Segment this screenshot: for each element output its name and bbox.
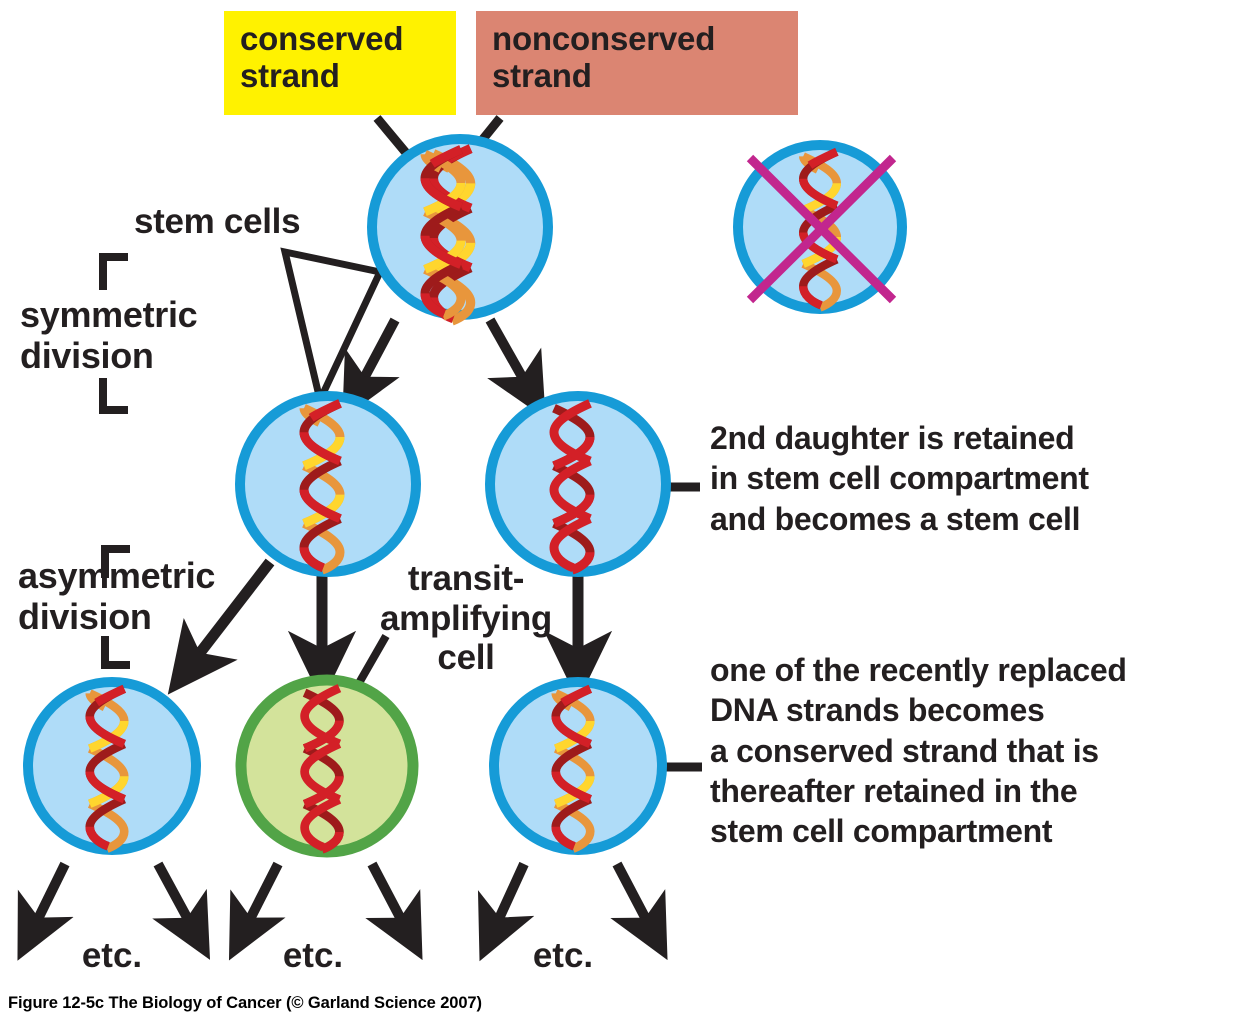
annotation-second-daughter-line3: and becomes a stem cell [710,499,1089,539]
annotation-second-daughter: 2nd daughter is retained in stem cell co… [710,418,1089,539]
etc-label: etc. [253,936,373,976]
label-stem-cells: stem cells [134,202,300,242]
label-transit-line1: transit- [371,559,561,599]
annotation-conserved-line4: thereafter retained in the [710,771,1127,811]
legend-conserved-line1: conserved [240,21,442,58]
cell-daughter-right-row2[interactable] [490,396,666,572]
label-asymmetric-line2: division [18,597,215,638]
legend-nonconserved-line1: nonconserved [492,21,784,58]
label-symmetric-line1: symmetric [20,295,197,336]
cell-stem-cell-crossed-out[interactable] [738,145,902,309]
annotation-conserved-line1: one of the recently replaced [710,650,1127,690]
cell-daughter-left-row3[interactable] [28,682,196,850]
etc-arrows [36,864,648,923]
legend-conserved-strand: conserved strand [224,11,456,115]
label-transit-amplifying-cell: transit- amplifying cell [371,559,561,678]
annotation-conserved-line3: a conserved strand that is [710,731,1127,771]
annotation-conserved-line2: DNA strands becomes [710,690,1127,730]
etc-label: etc. [52,936,172,976]
label-symmetric-line2: division [20,336,197,377]
annotation-second-daughter-line1: 2nd daughter is retained [710,418,1089,458]
cell-daughter-left-row2[interactable] [240,396,416,572]
label-asymmetric-division: asymmetric division [18,556,215,637]
label-transit-line2: amplifying [371,599,561,639]
label-asymmetric-line1: asymmetric [18,556,215,597]
figure-canvas: conserved strand nonconserved strand ste… [0,0,1253,1024]
etc-label: etc. [503,936,623,976]
annotation-connector-lines [663,487,702,767]
legend-nonconserved-strand: nonconserved strand [476,11,798,115]
annotation-second-daughter-line2: in stem cell compartment [710,458,1089,498]
legend-nonconserved-line2: strand [492,58,784,95]
cell-daughter-right-row3[interactable] [494,682,662,850]
annotation-conserved-strand-retained: one of the recently replaced DNA strands… [710,650,1127,852]
label-symmetric-division: symmetric division [20,295,197,376]
label-transit-line3: cell [371,638,561,678]
division-arrows-row1 [362,320,525,382]
legend-conserved-line2: strand [240,58,442,95]
annotation-conserved-line5: stem cell compartment [710,811,1127,851]
cell-transit-amplifying-cell[interactable] [241,680,413,852]
figure-caption: Figure 12-5c The Biology of Cancer (© Ga… [8,994,482,1013]
